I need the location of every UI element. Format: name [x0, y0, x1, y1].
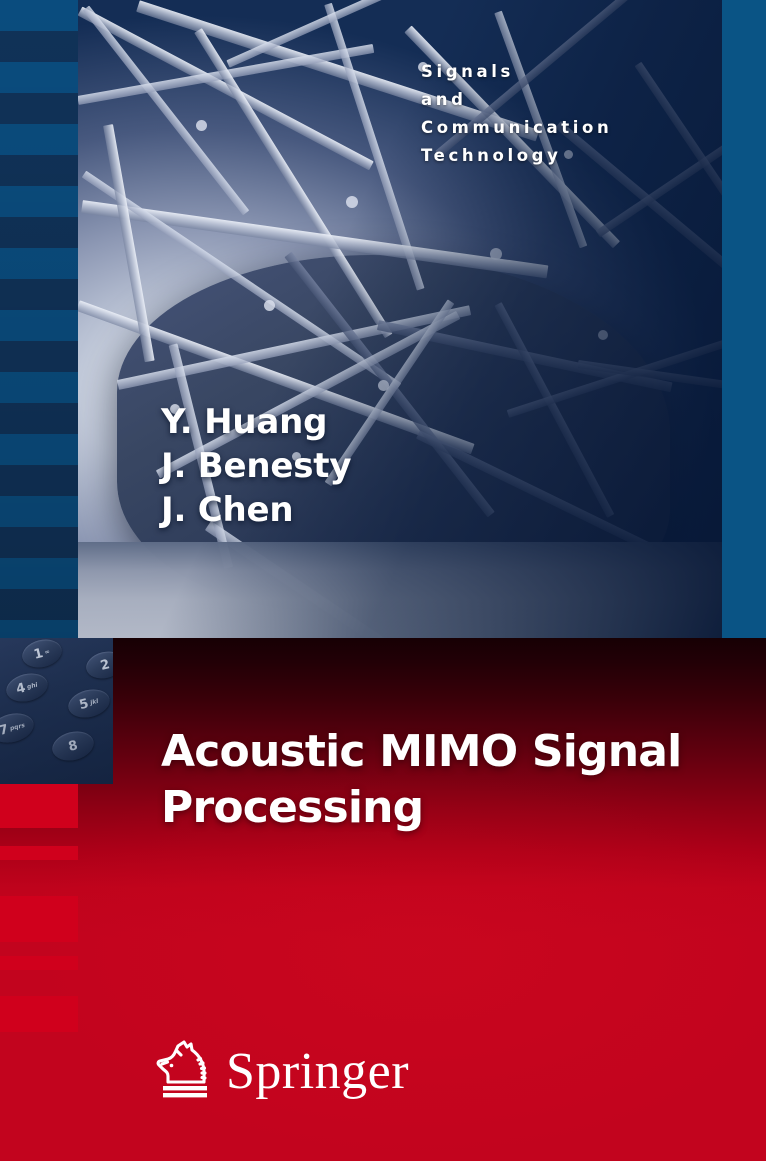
telescope-photo: [78, 0, 722, 638]
series-line-2: and: [421, 86, 612, 114]
red-block: [0, 784, 78, 828]
series-title: Signals and Communication Technology: [421, 58, 612, 170]
book-cover: Signals and Communication Technology Y. …: [0, 0, 766, 1161]
author-name: J. Benesty: [161, 444, 351, 488]
page-title: Acoustic MIMO Signal Processing: [161, 724, 741, 836]
right-blue-bar: [722, 0, 766, 638]
stripe-shading: [0, 0, 78, 638]
red-block: [0, 896, 78, 942]
left-stripe-column: [0, 0, 78, 638]
phone-keypad-photo: 1∞24ghi5jkl7pqrs8: [0, 638, 113, 784]
publisher-name: Springer: [226, 1046, 409, 1100]
series-line-4: Technology: [421, 142, 612, 170]
publisher-logo: Springer: [154, 1038, 409, 1100]
cover-bottom-section: 1∞24ghi5jkl7pqrs8 Acoustic MIMO Signal P…: [0, 638, 766, 1161]
cover-top-section: Signals and Communication Technology Y. …: [0, 0, 766, 638]
sky-gradient: [78, 0, 722, 638]
author-name: J. Chen: [161, 488, 351, 532]
series-line-1: Signals: [421, 58, 612, 86]
knight-chess-piece-icon: [154, 1038, 212, 1100]
title-line-1: Acoustic MIMO Signal: [161, 724, 741, 780]
red-block: [0, 846, 78, 860]
author-name: Y. Huang: [161, 400, 351, 444]
keypad-tint: [0, 638, 113, 784]
author-list: Y. Huang J. Benesty J. Chen: [161, 400, 351, 532]
title-line-2: Processing: [161, 780, 741, 836]
red-block: [0, 996, 78, 1032]
red-block: [0, 956, 78, 970]
series-line-3: Communication: [421, 114, 612, 142]
